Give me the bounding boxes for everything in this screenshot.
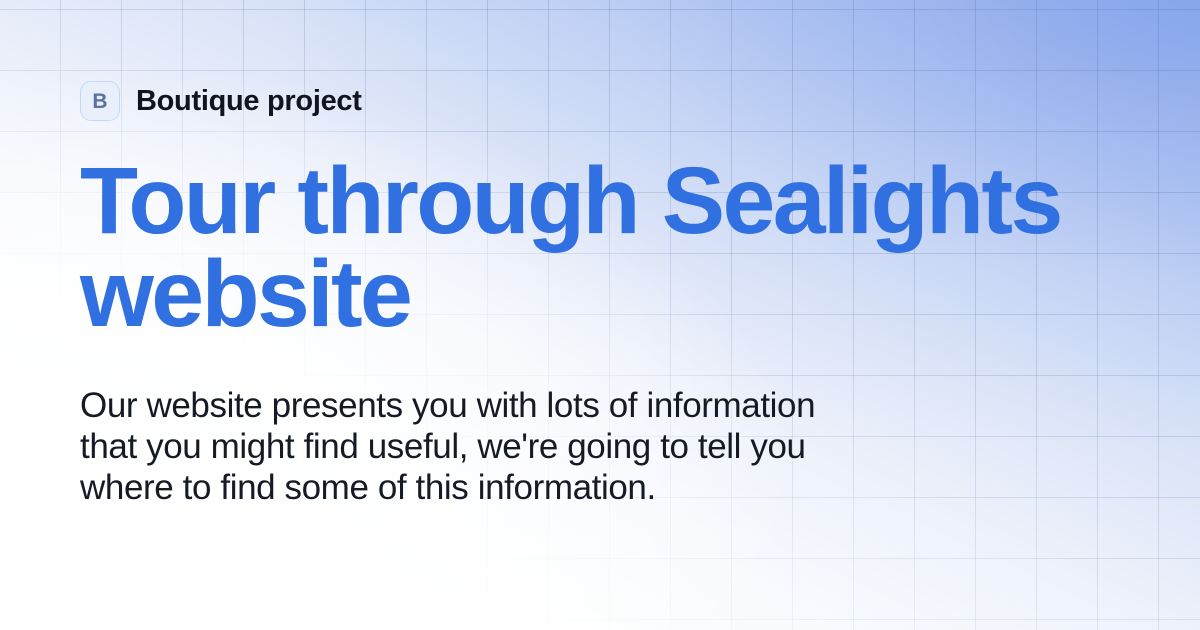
project-label-row: B Boutique project	[80, 81, 362, 121]
project-name: Boutique project	[136, 85, 362, 118]
project-badge-icon: B	[80, 81, 120, 121]
og-card: B Boutique project Tour through Sealight…	[0, 0, 1200, 630]
card-content: B Boutique project Tour through Sealight…	[80, 0, 1140, 630]
page-description: Our website presents you with lots of in…	[80, 385, 870, 508]
page-title: Tour through Sealights website	[80, 155, 1140, 341]
